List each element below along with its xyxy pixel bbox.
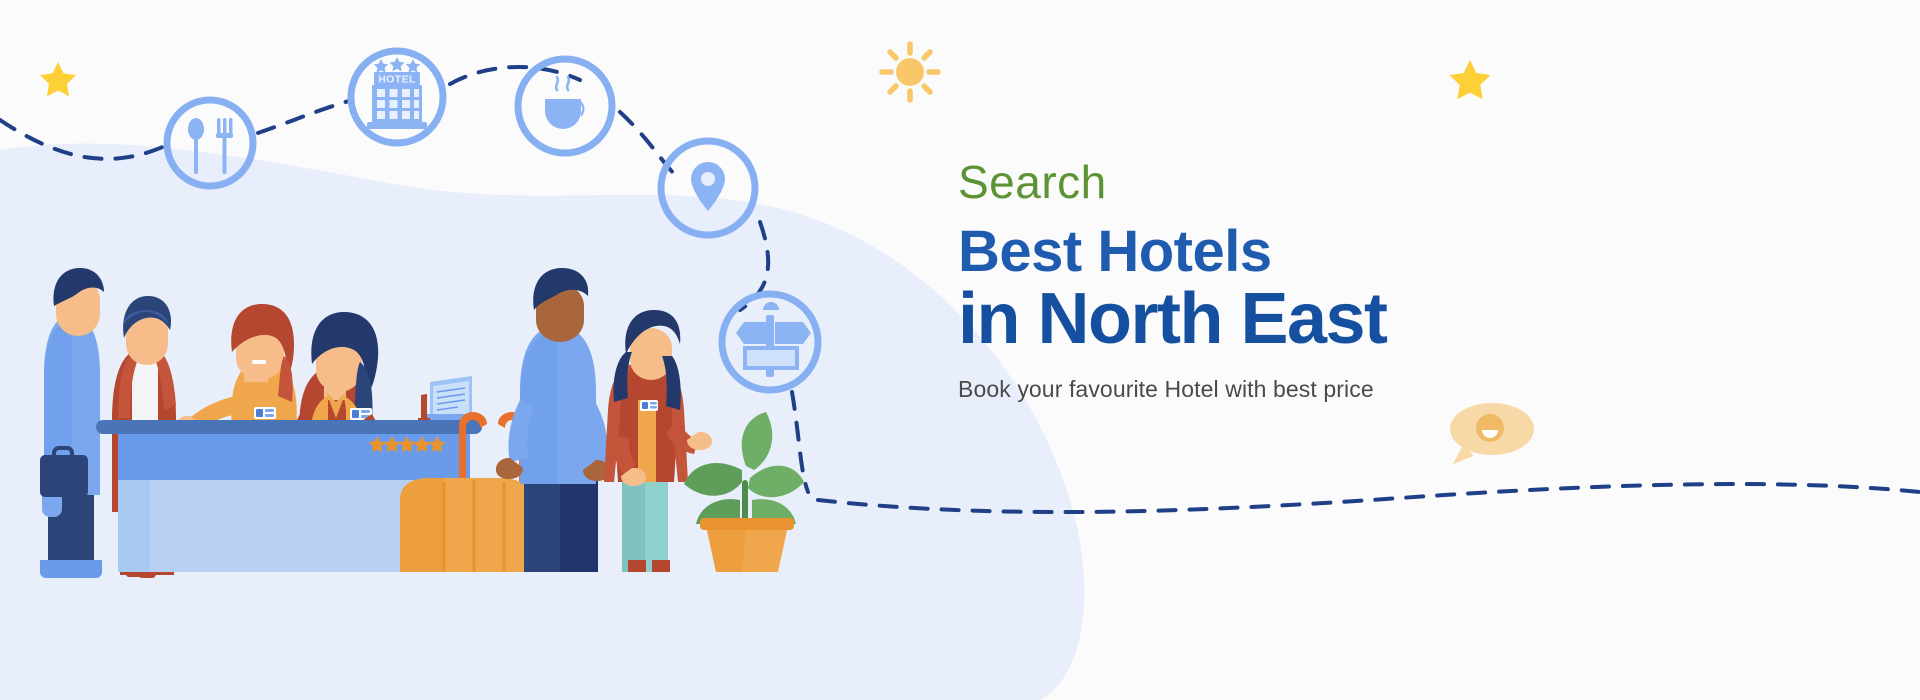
coffee-steam-icon (556, 77, 569, 90)
guest-blue-coat (40, 268, 104, 578)
sun-icon (882, 44, 938, 100)
star-icon-left (40, 62, 76, 96)
hero-banner: HOTEL (0, 0, 1920, 700)
star-icon-right (1449, 60, 1490, 99)
journey-node-location (661, 141, 755, 235)
reception-scene (40, 268, 804, 578)
traveler-red-coat-right (604, 310, 712, 572)
journey-node-coffee (518, 59, 612, 153)
journey-node-hotel: HOTEL (351, 51, 443, 143)
map-pin-icon (691, 162, 725, 211)
signpost-icon (736, 302, 811, 377)
speech-bubble-smiley-icon (1450, 403, 1534, 464)
eyebrow-search-label: Search (958, 158, 1598, 206)
heading-line-2: in North East (958, 283, 1598, 356)
spoon-fork-icon (188, 118, 233, 174)
coffee-cup-icon (545, 99, 584, 129)
heading-line-1: Best Hotels (958, 222, 1598, 281)
hero-copy: Search Best Hotels in North East Book yo… (958, 158, 1598, 405)
hotel-icon-label: HOTEL (378, 74, 416, 86)
journey-node-signpost (722, 294, 818, 390)
journey-node-restaurant (167, 100, 253, 186)
hero-subtitle: Book your favourite Hotel with best pric… (958, 375, 1598, 405)
